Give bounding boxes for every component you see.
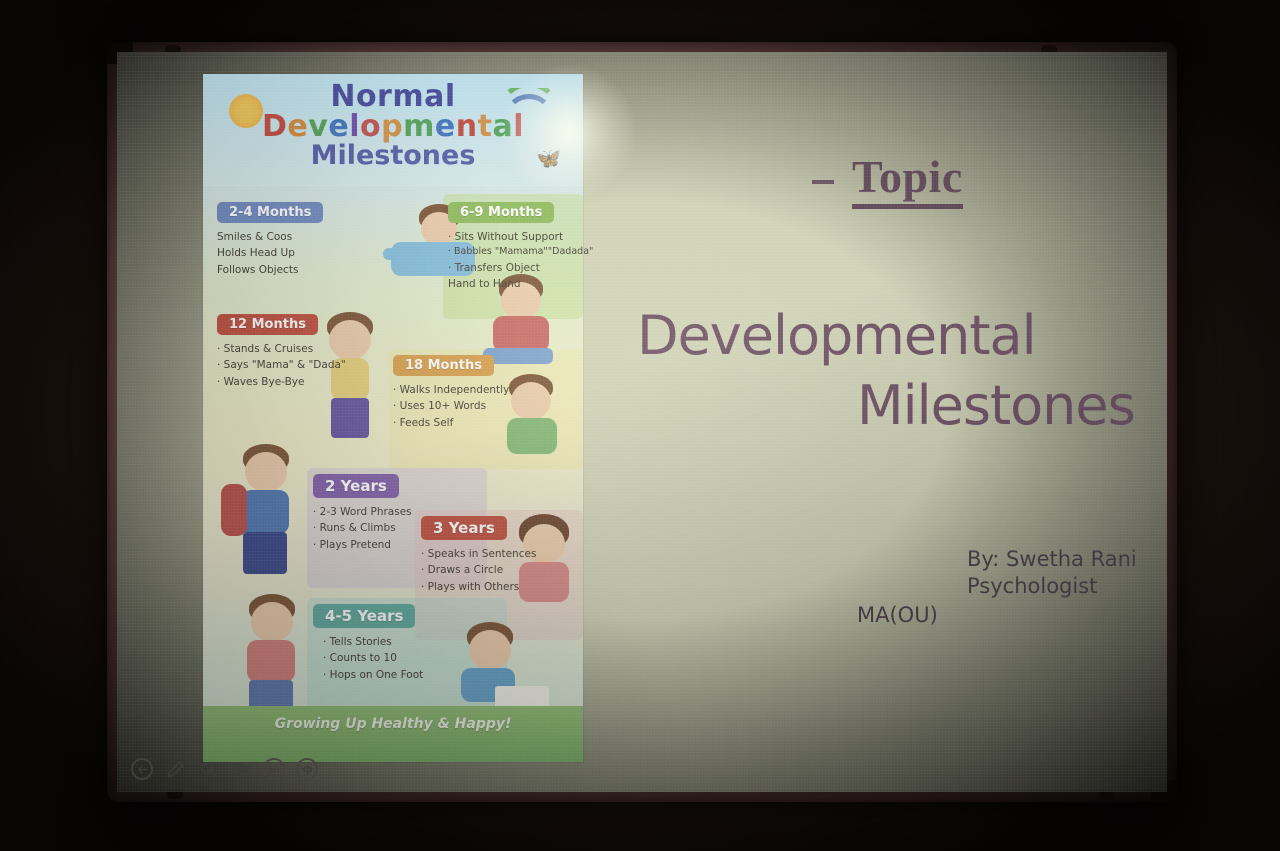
milestone-item: Hand to Hand	[448, 276, 593, 292]
slide-title-line2: Milestones	[857, 374, 1135, 437]
topic-dash	[812, 180, 834, 184]
projection-screen: 🦋 Normal Developmental Milestones	[117, 52, 1167, 792]
milestone-item: · Plays Pretend	[313, 537, 412, 553]
milestone-block-4-5-years: 4-5 Years · Tells Stories · Counts to 10…	[313, 604, 423, 683]
milestone-block-3-years: 3 Years · Speaks in Sentences · Draws a …	[421, 516, 536, 595]
wall-left	[0, 0, 120, 851]
milestone-item: Smiles & Coos	[217, 229, 323, 245]
milestone-items: · Sits Without Support · Babbles "Mamama…	[448, 229, 593, 293]
more-icon[interactable]	[263, 758, 285, 780]
poster-title-line1: Normal	[203, 82, 583, 112]
byline-qualification: MA(OU)	[857, 603, 938, 627]
milestone-item: · Tells Stories	[323, 634, 423, 650]
byline-author: By: Swetha Rani	[967, 547, 1137, 571]
milestone-item: · Speaks in Sentences	[421, 546, 536, 562]
milestone-item: Holds Head Up	[217, 245, 323, 261]
projector-icon[interactable]	[230, 758, 252, 780]
milestone-heading: 18 Months	[393, 355, 494, 376]
milestone-block-18-months: 18 Months · Walks Independently · Uses 1…	[393, 355, 509, 431]
poster-footer-text: Growing Up Healthy & Happy!	[203, 716, 583, 732]
milestone-item: · Says "Mama" & "Dada"	[217, 357, 346, 373]
whiteboard-frame: 🦋 Normal Developmental Milestones	[107, 42, 1177, 802]
milestone-block-6-9-months: 6-9 Months · Sits Without Support · Babb…	[448, 202, 593, 293]
milestone-items: Smiles & Coos Holds Head Up Follows Obje…	[217, 229, 323, 278]
milestone-items: · 2-3 Word Phrases · Runs & Climbs · Pla…	[313, 504, 412, 553]
milestone-heading: 12 Months	[217, 314, 318, 335]
poster-title: Normal Developmental Milestones	[203, 82, 583, 169]
milestone-heading: 2 Years	[313, 474, 399, 498]
child-illustration	[223, 444, 313, 594]
milestone-item: · Hops on One Foot	[323, 667, 423, 683]
milestone-item: · Stands & Cruises	[217, 341, 346, 357]
milestone-item: · Uses 10+ Words	[393, 398, 509, 414]
milestone-item: · Plays with Others	[421, 579, 536, 595]
milestone-item: · 2-3 Word Phrases	[313, 504, 412, 520]
slide-title-line1: Developmental	[637, 304, 1036, 367]
milestone-heading: 4-5 Years	[313, 604, 415, 628]
milestone-item: · Counts to 10	[323, 650, 423, 666]
wall-right	[1160, 0, 1280, 851]
poster-title-line2: Developmental	[203, 112, 583, 142]
milestone-item: · Sits Without Support	[448, 229, 593, 245]
poster-image: 🦋 Normal Developmental Milestones	[203, 74, 583, 762]
milestone-block-12-months: 12 Months · Stands & Cruises · Says "Mam…	[217, 314, 346, 390]
milestone-block-2-4-months: 2-4 Months Smiles & Coos Holds Head Up F…	[217, 202, 323, 278]
milestone-heading: 6-9 Months	[448, 202, 554, 223]
milestone-item: · Runs & Climbs	[313, 520, 412, 536]
poster-footer-banner: Growing Up Healthy & Happy!	[203, 706, 583, 762]
milestone-items: · Stands & Cruises · Says "Mama" & "Dada…	[217, 341, 346, 390]
milestone-item: · Waves Bye-Bye	[217, 374, 346, 390]
milestone-item: · Walks Independently	[393, 382, 509, 398]
milestone-items: · Speaks in Sentences · Draws a Circle ·…	[421, 546, 536, 595]
frame-bolt	[1099, 791, 1115, 800]
milestone-heading: 2-4 Months	[217, 202, 323, 223]
pen-icon[interactable]	[164, 758, 186, 780]
topic-heading: Topic	[852, 150, 963, 203]
milestone-item: · Transfers Object	[448, 260, 593, 276]
milestone-block-2-years: 2 Years · 2-3 Word Phrases · Runs & Clim…	[313, 474, 412, 553]
milestone-heading: 3 Years	[421, 516, 507, 540]
milestone-items: · Tells Stories · Counts to 10 · Hops on…	[323, 634, 423, 683]
milestone-items: · Walks Independently · Uses 10+ Words ·…	[393, 382, 509, 431]
room-scene: 🦋 Normal Developmental Milestones	[0, 0, 1280, 851]
search-icon[interactable]	[197, 758, 219, 780]
milestone-item: · Babbles "Mamama""Dadada"	[448, 245, 593, 260]
expand-icon[interactable]	[296, 758, 318, 780]
poster-title-line3: Milestones	[203, 142, 583, 169]
milestone-item: Follows Objects	[217, 262, 323, 278]
milestone-item: · Draws a Circle	[421, 562, 536, 578]
milestone-item: · Feeds Self	[393, 415, 509, 431]
byline-role: Psychologist	[967, 574, 1097, 598]
slide-text-area: Topic Developmental Milestones By: Sweth…	[617, 52, 1167, 792]
back-icon[interactable]	[131, 758, 153, 780]
viewer-toolbar[interactable]	[131, 758, 318, 780]
